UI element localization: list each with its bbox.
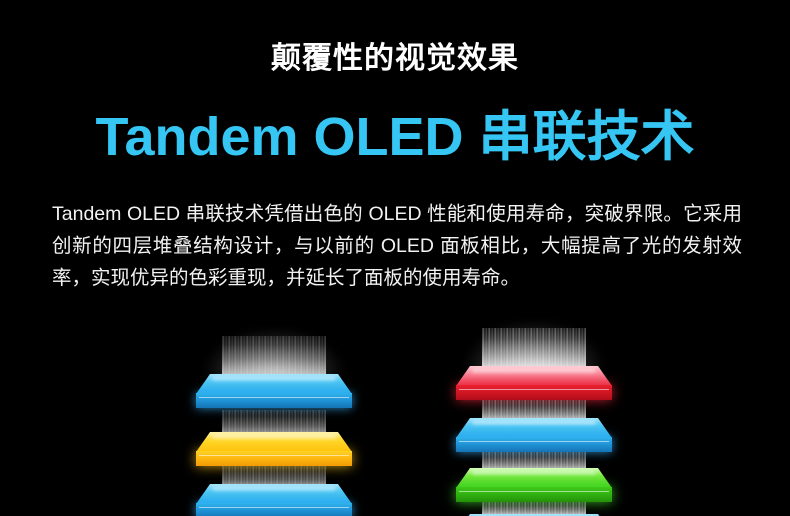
left-layer-yellow	[196, 432, 352, 466]
light-glow-right-top	[466, 322, 602, 372]
plate-highlight	[212, 434, 336, 439]
plate-front-face	[196, 503, 352, 516]
plate-highlight	[472, 420, 596, 425]
plate-front-face	[456, 385, 612, 400]
tandem-oled-diagram	[0, 336, 790, 516]
plate-seam	[459, 491, 609, 492]
plate-front-face	[456, 487, 612, 502]
plate-highlight	[472, 368, 596, 373]
right-layer-red	[456, 366, 612, 400]
promo-page: 颠覆性的视觉效果 Tandem OLED 串联技术 Tandem OLED 串联…	[0, 0, 790, 516]
plate-front-face	[196, 393, 352, 408]
light-glow-left-top	[206, 330, 342, 376]
plate-seam	[199, 455, 349, 456]
right-stack-tandem-oled	[456, 336, 612, 516]
plate-highlight	[472, 470, 596, 475]
plate-seam	[199, 507, 349, 508]
light-beam-left-top	[222, 336, 326, 376]
plate-front-face	[456, 437, 612, 452]
page-title: Tandem OLED 串联技术	[0, 106, 790, 168]
left-layer-blue-top	[196, 374, 352, 408]
right-layer-green	[456, 468, 612, 502]
body-paragraph: Tandem OLED 串联技术凭借出色的 OLED 性能和使用寿命，突破界限。…	[52, 198, 742, 294]
plate-seam	[199, 397, 349, 398]
right-layer-blue-upper	[456, 418, 612, 452]
plate-front-face	[196, 451, 352, 466]
plate-highlight	[212, 486, 336, 491]
plate-seam	[459, 441, 609, 442]
left-layer-blue-bottom	[196, 484, 352, 516]
left-stack-conventional-oled	[196, 336, 352, 516]
plate-seam	[459, 389, 609, 390]
eyebrow-heading: 颠覆性的视觉效果	[0, 40, 790, 78]
plate-highlight	[212, 376, 336, 381]
